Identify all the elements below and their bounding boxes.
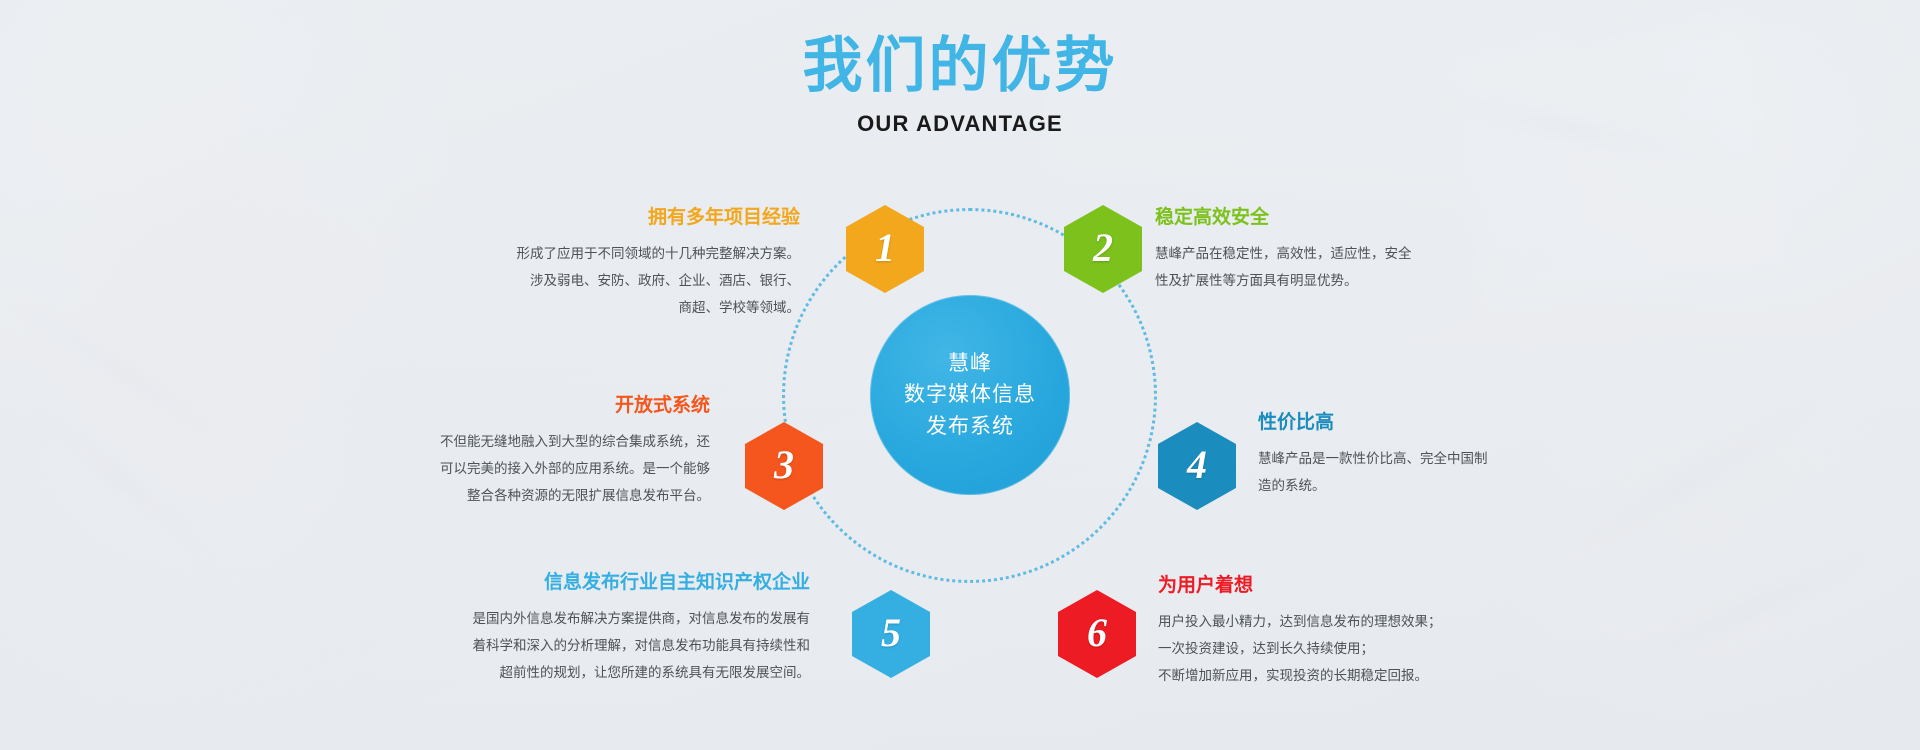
- feature-block-4: 性价比高 慧峰产品是一款性价比高、完全中国制 造的系统。: [1258, 410, 1588, 499]
- feature-title-6: 为用户着想: [1158, 573, 1558, 599]
- feature-line: 慧峰产品是一款性价比高、完全中国制: [1258, 445, 1588, 472]
- badge-number-6: 6: [1087, 609, 1107, 656]
- feature-block-3: 开放式系统 不但能无缝地融入到大型的综合集成系统，还 可以完美的接入外部的应用系…: [360, 393, 710, 509]
- badge-number-5: 5: [881, 609, 901, 656]
- feature-title-1: 拥有多年项目经验: [450, 205, 800, 231]
- feature-line: 是国内外信息发布解决方案提供商，对信息发布的发展有: [400, 605, 810, 632]
- feature-line: 造的系统。: [1258, 472, 1588, 499]
- badge-number-3: 3: [774, 441, 794, 488]
- feature-body-6: 用户投入最小精力，达到信息发布的理想效果； 一次投资建设，达到长久持续使用； 不…: [1158, 608, 1558, 689]
- feature-line: 一次投资建设，达到长久持续使用；: [1158, 635, 1558, 662]
- badge-number-2: 2: [1093, 224, 1113, 271]
- feature-line: 商超、学校等领域。: [450, 294, 800, 321]
- feature-body-1: 形成了应用于不同领域的十几种完整解决方案。 涉及弱电、安防、政府、企业、酒店、银…: [450, 240, 800, 321]
- feature-title-5: 信息发布行业自主知识产权企业: [400, 570, 810, 596]
- feature-block-2: 稳定高效安全 慧峰产品在稳定性，高效性，适应性，安全 性及扩展性等方面具有明显优…: [1155, 205, 1515, 294]
- feature-line: 不但能无缝地融入到大型的综合集成系统，还: [360, 428, 710, 455]
- feature-block-6: 为用户着想 用户投入最小精力，达到信息发布的理想效果； 一次投资建设，达到长久持…: [1158, 573, 1558, 689]
- page-title: 我们的优势: [0, 34, 1920, 99]
- feature-line: 不断增加新应用，实现投资的长期稳定回报。: [1158, 662, 1558, 689]
- feature-line: 形成了应用于不同领域的十几种完整解决方案。: [450, 240, 800, 267]
- feature-title-4: 性价比高: [1258, 410, 1588, 436]
- feature-line: 涉及弱电、安防、政府、企业、酒店、银行、: [450, 267, 800, 294]
- feature-body-3: 不但能无缝地融入到大型的综合集成系统，还 可以完美的接入外部的应用系统。是一个能…: [360, 428, 710, 509]
- feature-line: 整合各种资源的无限扩展信息发布平台。: [360, 482, 710, 509]
- feature-line: 慧峰产品在稳定性，高效性，适应性，安全: [1155, 240, 1515, 267]
- badge-number-1: 1: [875, 224, 895, 271]
- core-line-3: 发布系统: [926, 411, 1014, 443]
- section-header: 我们的优势 OUR ADVANTAGE: [0, 34, 1920, 137]
- feature-line: 用户投入最小精力，达到信息发布的理想效果；: [1158, 608, 1558, 635]
- core-circle: 慧峰 数字媒体信息 发布系统: [870, 295, 1070, 495]
- feature-line: 着科学和深入的分析理解，对信息发布功能具有持续性和: [400, 632, 810, 659]
- feature-line: 性及扩展性等方面具有明显优势。: [1155, 267, 1515, 294]
- core-line-2: 数字媒体信息: [904, 379, 1036, 411]
- feature-body-4: 慧峰产品是一款性价比高、完全中国制 造的系统。: [1258, 445, 1588, 499]
- core-line-1: 慧峰: [948, 348, 992, 380]
- feature-line: 超前性的规划，让您所建的系统具有无限发展空间。: [400, 659, 810, 686]
- feature-body-2: 慧峰产品在稳定性，高效性，适应性，安全 性及扩展性等方面具有明显优势。: [1155, 240, 1515, 294]
- feature-title-3: 开放式系统: [360, 393, 710, 419]
- page-subtitle: OUR ADVANTAGE: [0, 111, 1920, 137]
- feature-block-5: 信息发布行业自主知识产权企业 是国内外信息发布解决方案提供商，对信息发布的发展有…: [400, 570, 810, 686]
- badge-number-4: 4: [1187, 441, 1207, 488]
- feature-block-1: 拥有多年项目经验 形成了应用于不同领域的十几种完整解决方案。 涉及弱电、安防、政…: [450, 205, 800, 321]
- feature-line: 可以完美的接入外部的应用系统。是一个能够: [360, 455, 710, 482]
- feature-title-2: 稳定高效安全: [1155, 205, 1515, 231]
- advantage-section: 我们的优势 OUR ADVANTAGE 慧峰 数字媒体信息 发布系统 1 2 3…: [0, 0, 1920, 750]
- feature-body-5: 是国内外信息发布解决方案提供商，对信息发布的发展有 着科学和深入的分析理解，对信…: [400, 605, 810, 686]
